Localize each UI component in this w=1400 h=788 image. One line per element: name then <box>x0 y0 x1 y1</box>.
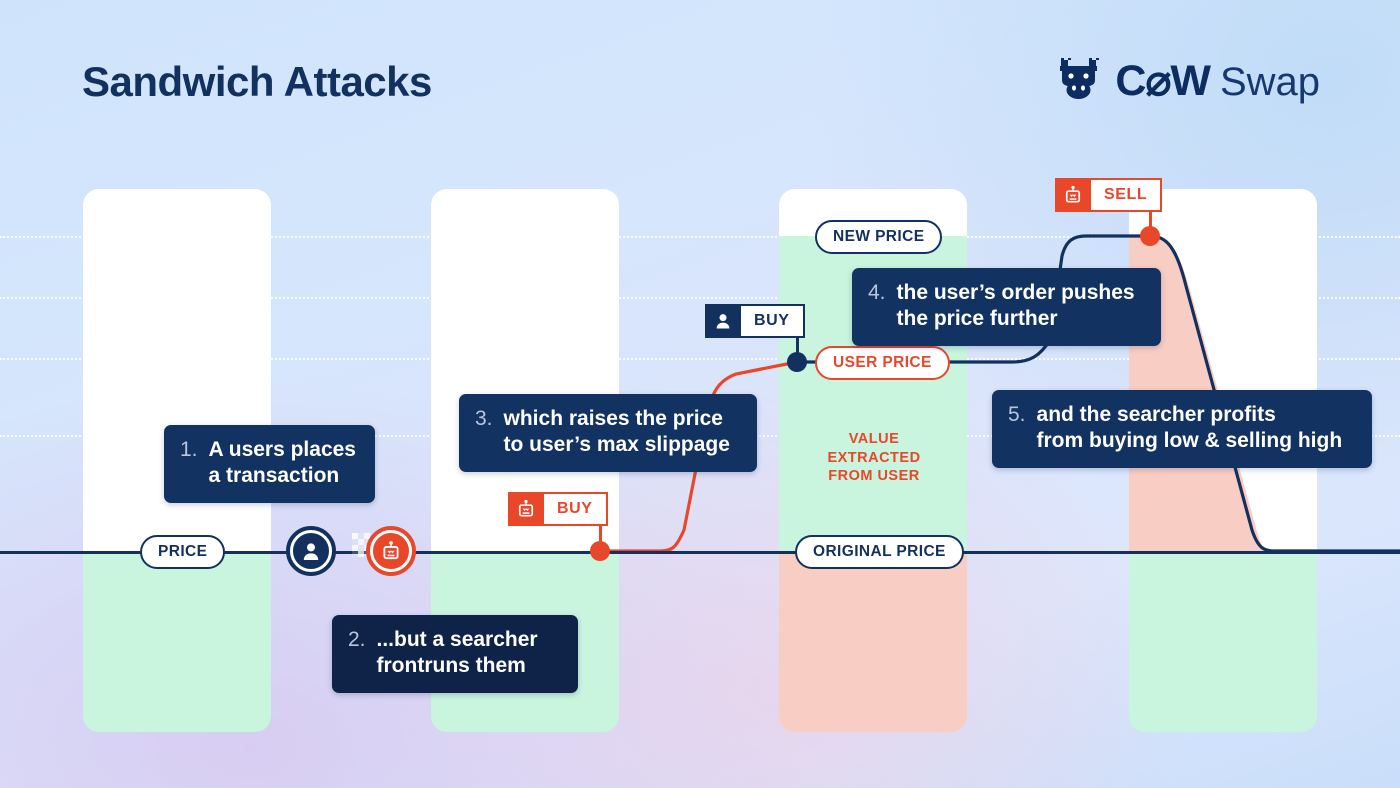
callout-step-3: 3. which raises the price to user’s max … <box>459 394 757 472</box>
callout-step-5-text: and the searcher profits from buying low… <box>1037 402 1343 455</box>
robot-icon <box>1055 178 1089 212</box>
tag-user-buy[interactable]: BUY <box>705 304 805 338</box>
callout-step-3-text: which raises the price to user’s max sli… <box>504 406 730 459</box>
callout-step-5-number: 5. <box>1008 402 1026 455</box>
callout-step-3-number: 3. <box>475 406 493 459</box>
tag-searcher-sell-label: SELL <box>1089 178 1162 212</box>
pill-user-price-label: USER PRICE <box>833 354 932 372</box>
cow-head-icon <box>1055 56 1105 107</box>
pill-original-price-label: ORIGINAL PRICE <box>813 543 946 561</box>
callout-step-5: 5. and the searcher profits from buying … <box>992 390 1372 468</box>
robot-icon <box>508 492 542 526</box>
callout-step-4-text: the user’s order pushes the price furthe… <box>897 280 1135 333</box>
user-icon <box>290 530 332 572</box>
page-title: Sandwich Attacks <box>82 58 432 106</box>
brand-name: C⌀W <box>1115 60 1210 103</box>
tag-user-buy-label: BUY <box>739 304 805 338</box>
tag-stem-user-buy <box>796 338 799 362</box>
callout-step-4-number: 4. <box>868 280 886 333</box>
column-lower-mint <box>1129 551 1317 732</box>
callout-step-2-text: ...but a searcher frontruns them <box>377 627 538 680</box>
callout-step-2-number: 2. <box>348 627 366 680</box>
badge-user <box>286 526 336 576</box>
robot-icon <box>370 530 412 572</box>
tag-searcher-sell[interactable]: SELL <box>1055 178 1162 212</box>
pill-original-price: ORIGINAL PRICE <box>795 535 964 569</box>
callout-step-1: 1. A users places a transaction <box>164 425 375 503</box>
tag-stem-searcher-sell <box>1149 212 1152 236</box>
tag-searcher-buy[interactable]: BUY <box>508 492 608 526</box>
original-price-dashline-right <box>952 551 1272 554</box>
pill-price: PRICE <box>140 535 225 569</box>
column-upper-white <box>1129 189 1317 551</box>
callout-step-1-text: A users places a transaction <box>209 437 356 490</box>
pill-user-price: USER PRICE <box>815 346 950 380</box>
value-extracted-note: VALUE EXTRACTED FROM USER <box>810 430 938 486</box>
pill-price-label: PRICE <box>158 543 207 561</box>
pill-new-price: NEW PRICE <box>815 220 942 254</box>
tag-searcher-buy-label: BUY <box>542 492 608 526</box>
badge-searcher <box>366 526 416 576</box>
tag-stem-searcher-buy <box>599 525 602 551</box>
pill-new-price-label: NEW PRICE <box>833 228 924 246</box>
callout-step-2: 2. ...but a searcher frontruns them <box>332 615 578 693</box>
callout-step-1-number: 1. <box>180 437 198 490</box>
band-value-extracted <box>779 551 967 732</box>
user-icon <box>705 304 739 338</box>
column-lower-mint <box>83 551 271 732</box>
brand-logo[interactable]: C⌀W Swap <box>1055 56 1320 107</box>
callout-step-4: 4. the user’s order pushes the price fur… <box>852 268 1161 346</box>
infographic-canvas: PRICE NEW PRICE USER PRICE ORIGINAL PRIC… <box>0 0 1400 788</box>
brand-product: Swap <box>1220 62 1320 102</box>
original-price-dashline-left <box>668 551 798 554</box>
